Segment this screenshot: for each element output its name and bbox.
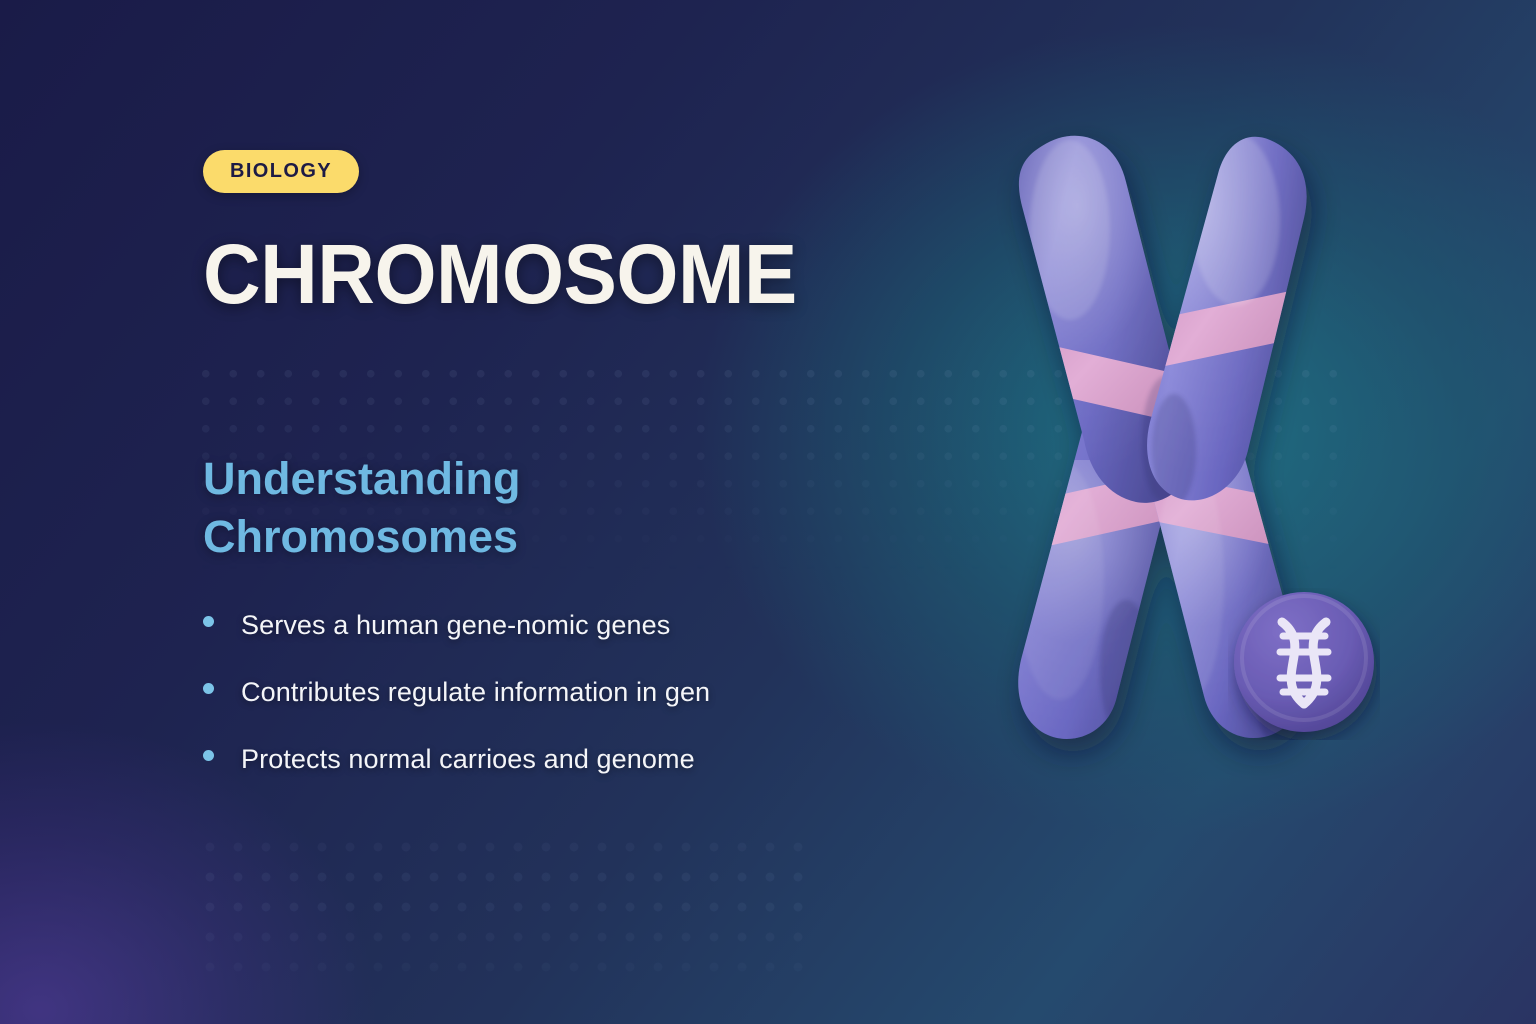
text-column: BIOLOGY CHROMOSOME Understanding Chromos…	[203, 0, 923, 1024]
bullet-list: Serves a human gene-nomic genes Contribu…	[203, 610, 710, 811]
bullet-dot-icon	[203, 616, 214, 627]
page-title: CHROMOSOME	[203, 232, 797, 316]
bullet-dot-icon	[203, 683, 214, 694]
bullet-label: Contributes regulate information in gen	[241, 677, 710, 708]
bullet-label: Serves a human gene-nomic genes	[241, 610, 670, 641]
subtitle: Understanding Chromosomes	[203, 450, 623, 565]
bullet-label: Protects normal carrioes and genome	[241, 744, 695, 775]
list-item: Serves a human gene-nomic genes	[203, 610, 710, 677]
slide-canvas: BIOLOGY CHROMOSOME Understanding Chromos…	[0, 0, 1536, 1024]
list-item: Protects normal carrioes and genome	[203, 744, 710, 811]
list-item: Contributes regulate information in gen	[203, 677, 710, 744]
dna-helix-badge	[1228, 588, 1380, 740]
bullet-dot-icon	[203, 750, 214, 761]
category-badge: BIOLOGY	[203, 150, 359, 193]
